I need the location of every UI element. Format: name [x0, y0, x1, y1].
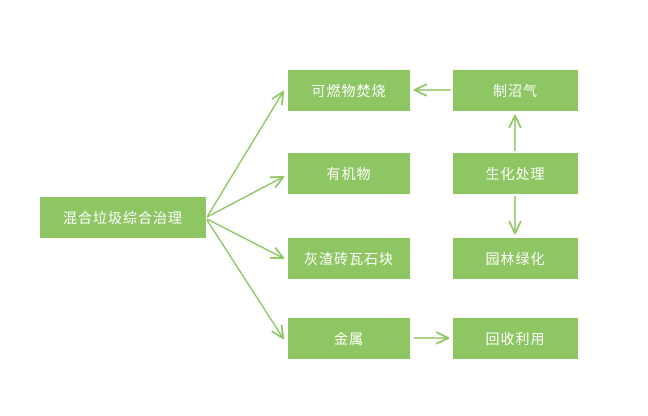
node-label: 有机物	[327, 167, 372, 181]
node-metal[interactable]: 金属	[288, 318, 410, 359]
node-biogas-production[interactable]: 制沼气	[453, 70, 578, 111]
node-ash-bricks-tiles-stones[interactable]: 灰渣砖瓦石块	[288, 238, 410, 279]
node-label: 园林绿化	[486, 252, 546, 266]
node-mixed-waste-treatment[interactable]: 混合垃圾综合治理	[40, 197, 206, 238]
node-recycling-reuse[interactable]: 回收利用	[453, 318, 578, 359]
node-label: 灰渣砖瓦石块	[304, 252, 394, 266]
node-label: 混合垃圾综合治理	[63, 211, 183, 225]
node-label: 生化处理	[486, 167, 546, 181]
node-label: 金属	[334, 332, 364, 346]
node-label: 可燃物焚烧	[312, 84, 387, 98]
edge-root-to-burn	[207, 92, 283, 217]
node-organic-matter[interactable]: 有机物	[288, 153, 410, 194]
flowchart-canvas: 混合垃圾综合治理 可燃物焚烧 制沼气 有机物 生化处理 灰渣砖瓦石块 园林绿化 …	[0, 0, 648, 416]
node-biochemical-treatment[interactable]: 生化处理	[453, 153, 578, 194]
node-label: 回收利用	[486, 332, 546, 346]
node-combustible-incineration[interactable]: 可燃物焚烧	[288, 70, 410, 111]
node-label: 制沼气	[493, 84, 538, 98]
node-landscape-greening[interactable]: 园林绿化	[453, 238, 578, 279]
